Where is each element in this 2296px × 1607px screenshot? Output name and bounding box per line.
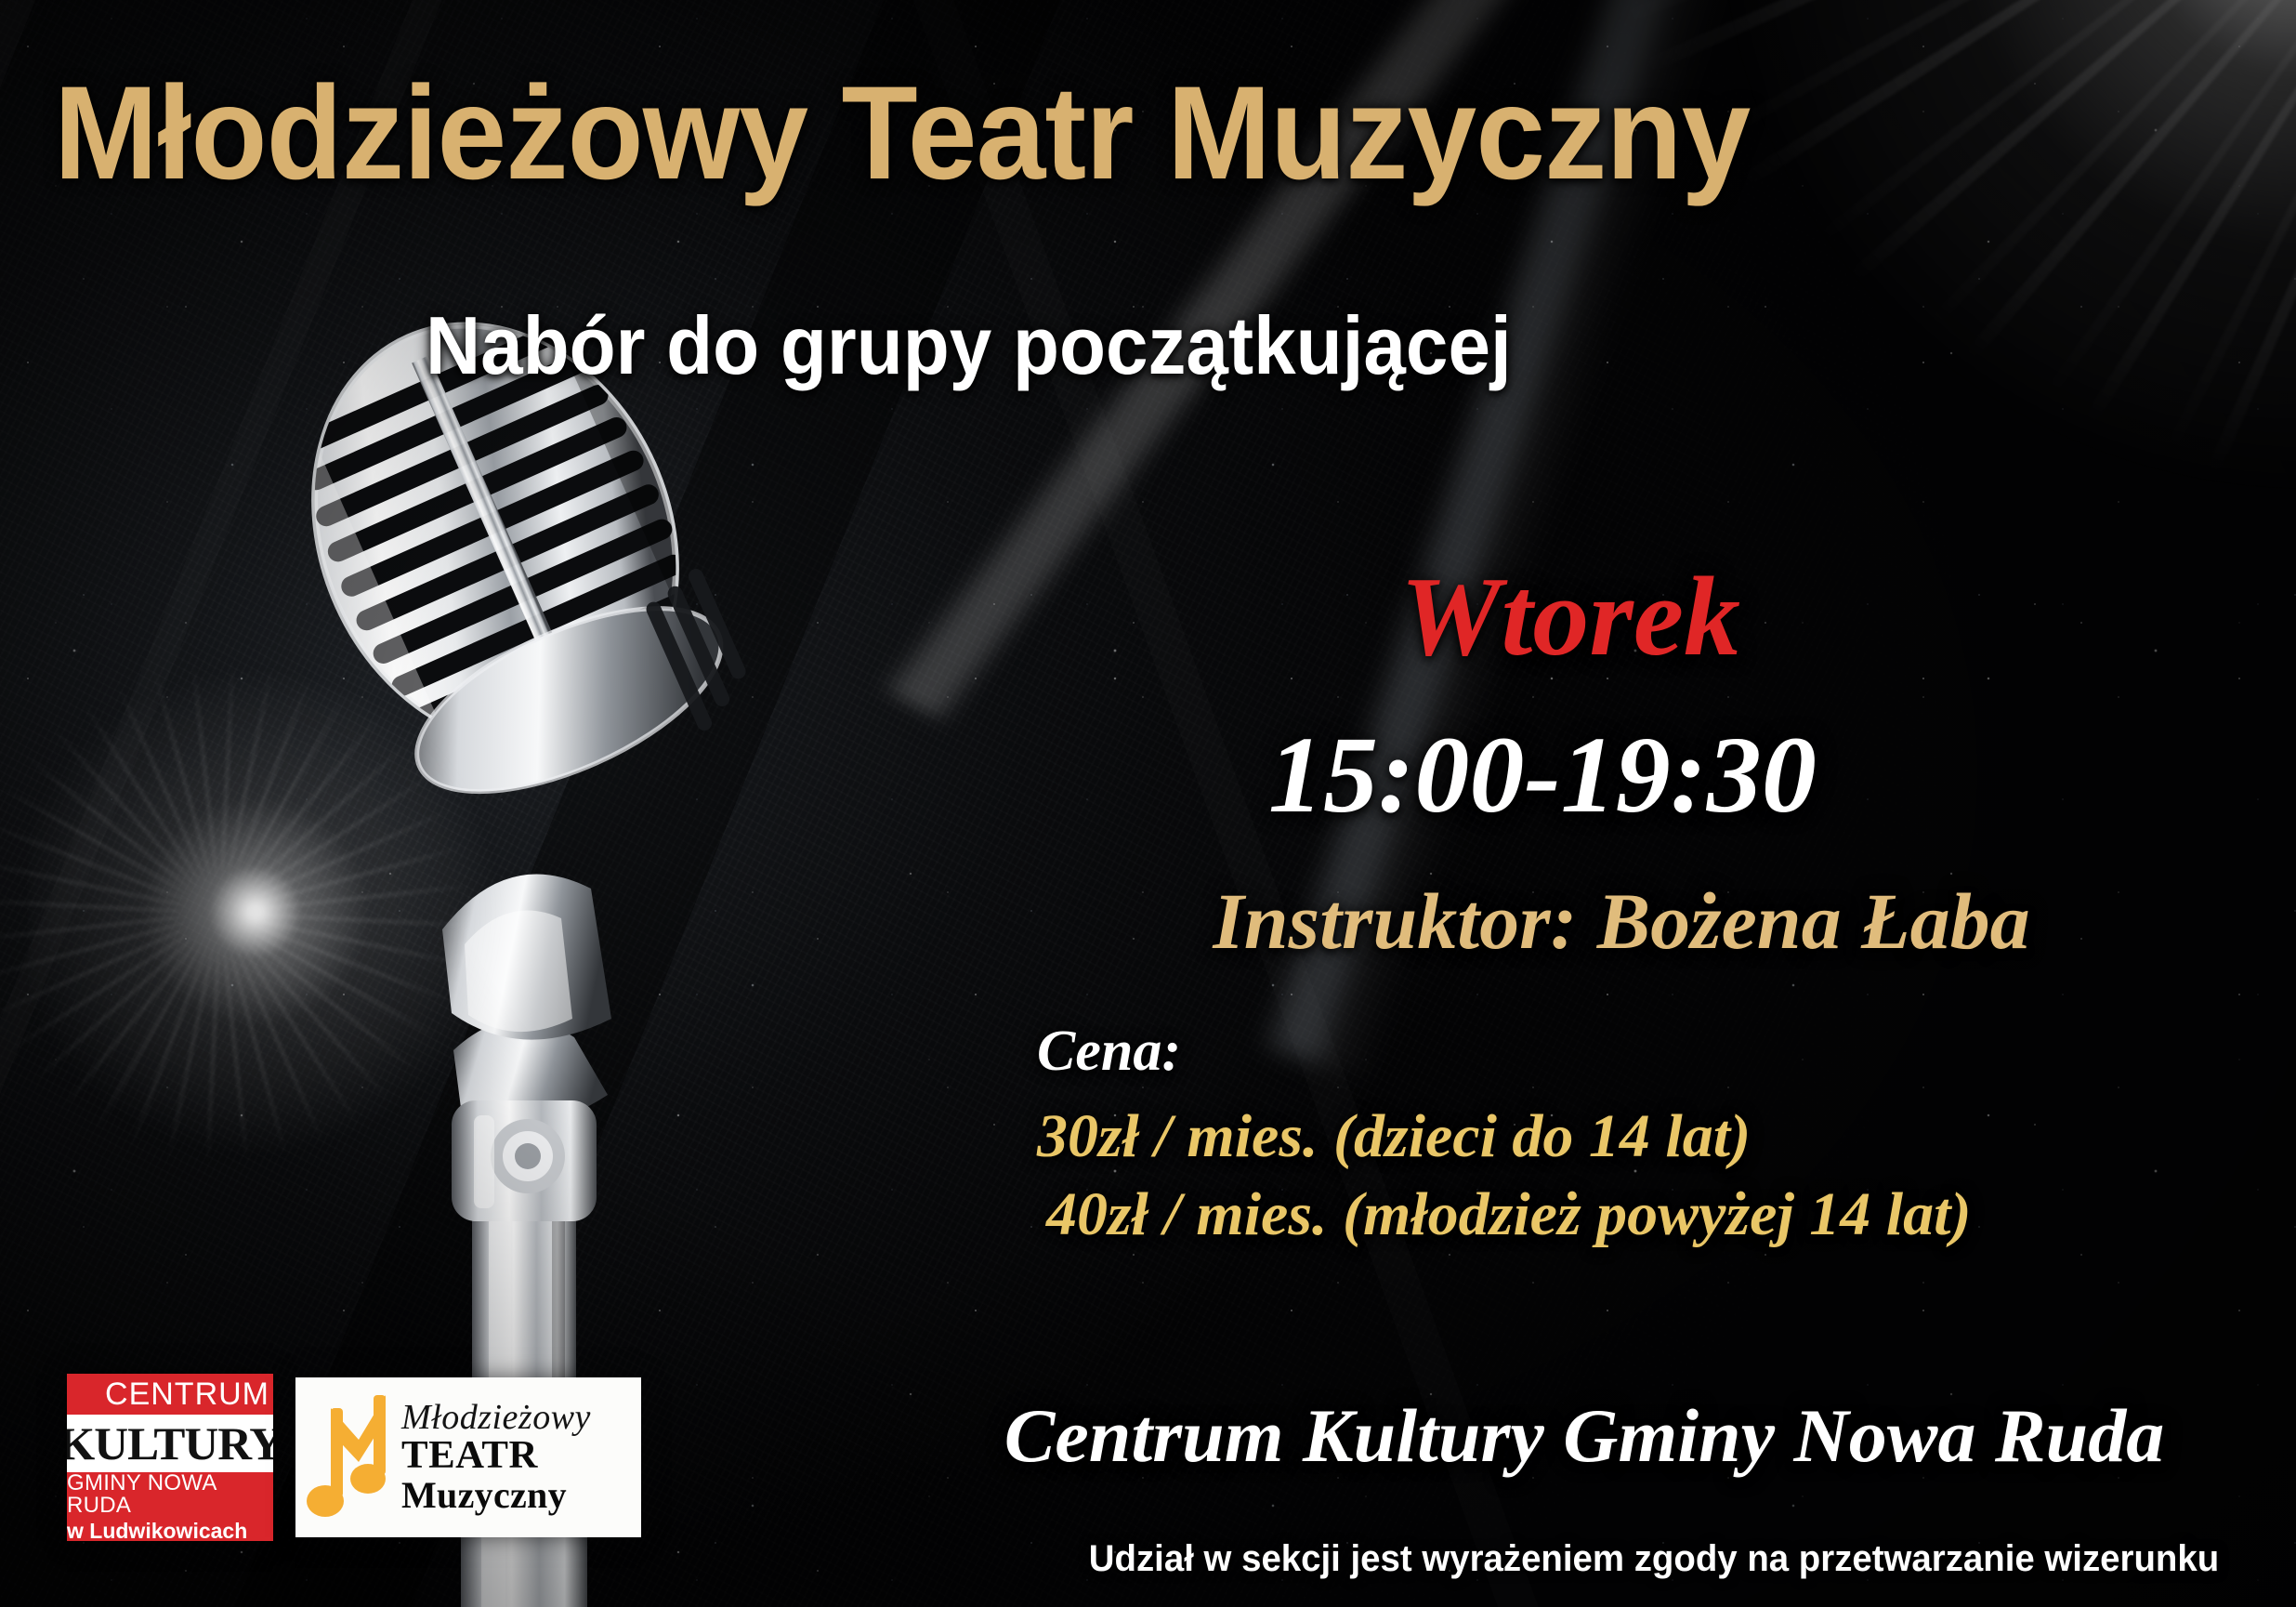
price-block: Cena: 30zł / mies. (dzieci do 14 lat) 40… [1037, 1017, 2267, 1254]
price-row-children: 30zł / mies. (dzieci do 14 lat) [1037, 1098, 2267, 1176]
culture-centre-logo: CENTRUM KULTURY GMINY NOWA RUDA w Ludwik… [67, 1374, 273, 1541]
ck-logo-top-band: CENTRUM [67, 1374, 273, 1415]
price-row-youth: 40zł / mies. (młodzież powyżej 14 lat) [1037, 1176, 2267, 1254]
ck-logo-line-kultury: KULTURY [67, 1420, 273, 1467]
day-of-week: Wtorek [1031, 558, 2267, 677]
theatre-logo-line-muzyczny: Muzyczny [401, 1476, 641, 1515]
theatre-logo: Młodzieżowy TEATR Muzyczny [295, 1377, 641, 1537]
poster-subtitle: Nabór do grupy początkującej [426, 305, 1512, 387]
theatre-logo-line-teatr: TEATR [401, 1435, 641, 1476]
music-note-icon [307, 1388, 407, 1527]
schedule-info-column: Wtorek 15:00-19:30 Instruktor: Bożena Ła… [1031, 558, 2267, 1255]
ck-logo-mid-band: KULTURY [67, 1415, 273, 1472]
ck-logo-line-centrum: CENTRUM [105, 1378, 269, 1410]
star-flare-icon [28, 641, 697, 1162]
theatre-logo-text: Młodzieżowy TEATR Muzyczny [401, 1400, 641, 1516]
theatre-logo-line-mlodziezowy: Młodzieżowy [401, 1400, 641, 1436]
page-title: Młodzieżowy Teatr Muzyczny [54, 67, 1644, 200]
instructor-name: Instruktor: Bożena Łaba [1031, 879, 2267, 963]
beamed-eighth-notes-icon [307, 1388, 407, 1527]
poster-canvas: Młodzieżowy Teatr Muzyczny Nabór do grup… [0, 0, 2296, 1607]
consent-notice: Udział w sekcji jest wyrażeniem zgody na… [1065, 1538, 2242, 1579]
time-range: 15:00-19:30 [1031, 718, 2267, 833]
venue-name: Centrum Kultury Gminy Nowa Ruda [911, 1394, 2258, 1478]
ck-logo-line-town: w Ludwikowicach Kł. [67, 1521, 273, 1541]
price-label: Cena: [1037, 1017, 2267, 1086]
ck-logo-bottom-band: GMINY NOWA RUDA w Ludwikowicach Kł. [67, 1472, 273, 1541]
ck-logo-line-gmina: GMINY NOWA RUDA [67, 1472, 273, 1517]
